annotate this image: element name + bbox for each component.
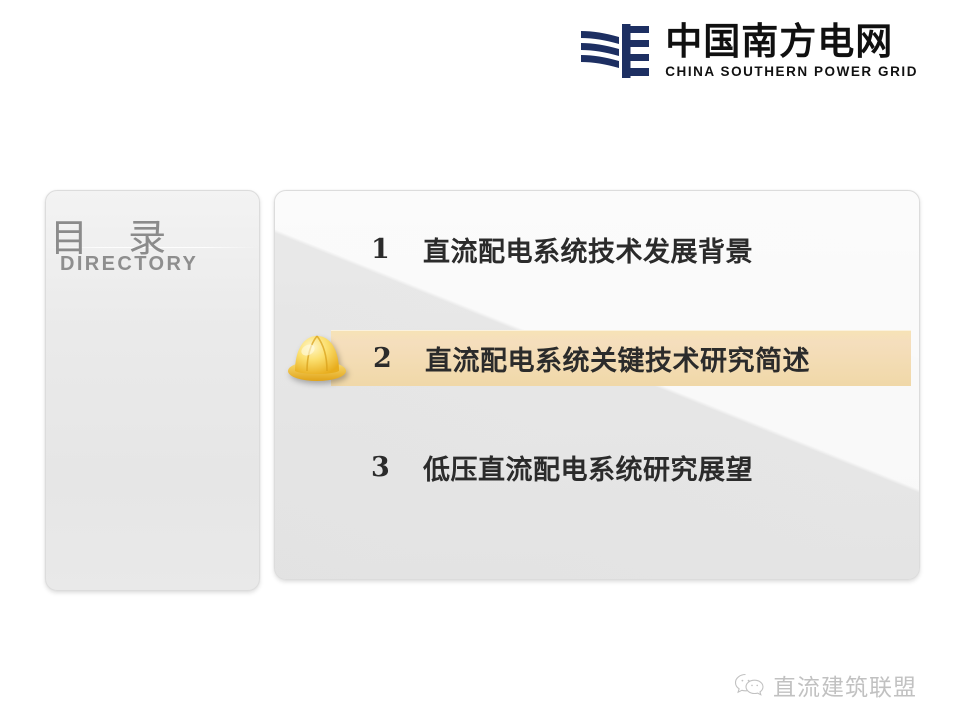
wechat-icon [734,672,764,698]
toc-item-2[interactable]: 2 直流配电系统关键技术研究简述 [331,330,911,386]
watermark: 直流建筑联盟 [734,668,917,702]
toc-item-3[interactable]: 3 低压直流配电系统研究展望 [275,439,919,495]
csg-lines-logo-icon [579,22,651,80]
brand-name-cn: 中国南方电网 [665,23,918,62]
directory-panel-inner: 目 录 DIRECTORY [46,191,259,590]
toc-item-1[interactable]: 1 直流配电系统技术发展背景 [275,221,919,277]
toc-item-3-label: 低压直流配电系统研究展望 [423,448,753,487]
toc-item-2-label: 直流配电系统关键技术研究简述 [425,339,810,378]
toc-item-2-number: 2 [373,343,407,374]
toc-list: 1 直流配电系统技术发展背景 2 直流配电系统关键技术研究简述 3 低压直流配电… [275,191,919,579]
directory-title-en: DIRECTORY [60,253,198,276]
toc-content-panel: 1 直流配电系统技术发展背景 2 直流配电系统关键技术研究简述 3 低压直流配电… [274,190,920,580]
toc-item-1-number: 1 [371,234,405,265]
toc-item-3-number: 3 [371,452,405,483]
brand-text-block: 中国南方电网 CHINA SOUTHERN POWER GRID [665,23,918,80]
toc-item-1-label: 直流配电系统技术发展背景 [423,230,753,269]
directory-panel: 目 录 DIRECTORY [45,190,260,591]
watermark-label: 直流建筑联盟 [773,668,917,702]
hard-hat-icon [286,326,348,384]
brand-logo: 中国南方电网 CHINA SOUTHERN POWER GRID [579,22,918,80]
brand-name-en: CHINA SOUTHERN POWER GRID [665,64,918,79]
